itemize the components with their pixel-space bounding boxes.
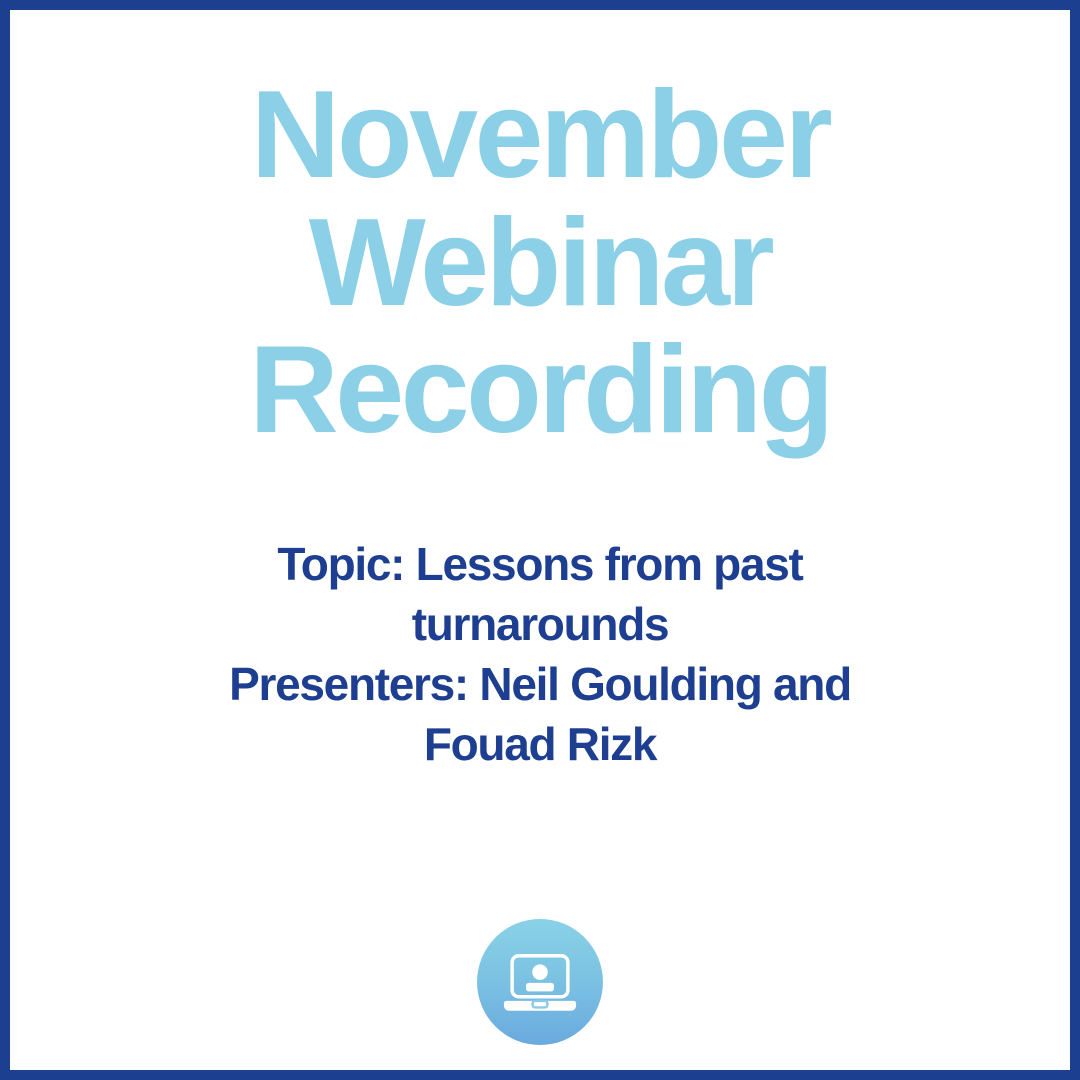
title-line-3: Recording [10,327,1070,455]
webinar-laptop-person-icon [499,941,581,1023]
icon-circle-background [477,919,603,1045]
webinar-details: Topic: Lessons from past turnarounds Pre… [180,535,900,774]
webinar-icon-badge [477,919,603,1045]
title-line-1: November [10,72,1070,200]
webinar-recording-card: November Webinar Recording Topic: Lesson… [0,0,1080,1080]
page-title: November Webinar Recording [10,72,1070,455]
topic-line: Topic: Lessons from past turnarounds [180,535,900,655]
title-line-2: Webinar [10,200,1070,328]
presenters-line: Presenters: Neil Goulding and Fouad Rizk [180,655,900,775]
